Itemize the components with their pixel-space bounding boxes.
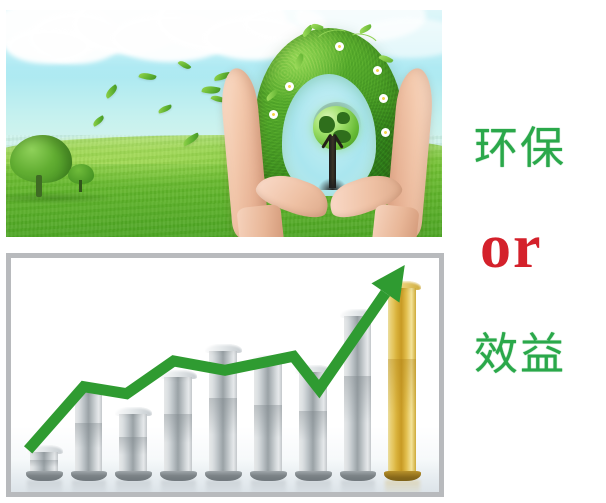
bar-reflection (161, 480, 196, 492)
poster-canvas: 环保 or 效益 (0, 0, 606, 503)
flower-icon (381, 128, 390, 137)
chart-bar (254, 362, 282, 474)
chart-bar (75, 392, 103, 474)
flower-icon (285, 82, 294, 91)
distant-tree-large-icon (10, 135, 72, 197)
slogan-column: 环保 or 效益 (452, 0, 606, 503)
bar-reflection (206, 480, 241, 492)
wrist-left (236, 204, 283, 237)
slogan-line-huanbao: 环保 (452, 112, 606, 176)
bar-reflection (251, 480, 286, 492)
slogan-line-xiaoyi: 效益 (452, 318, 606, 382)
globe-icon (313, 106, 359, 150)
bar-reflection (116, 480, 151, 492)
chart-bar-highlight (388, 288, 416, 474)
slogan-line-or: or (452, 212, 606, 283)
bar-front-face (119, 414, 147, 474)
bar-front-face (75, 392, 103, 474)
bar-front-face (299, 372, 327, 474)
flower-icon (269, 110, 278, 119)
moss-arch (255, 28, 403, 200)
wrist-right (372, 204, 419, 237)
chart-bar (164, 377, 192, 474)
bar-front-face (164, 377, 192, 474)
chart-plot-area (11, 258, 439, 492)
chart-bar (344, 316, 372, 474)
bar-front-face (344, 316, 372, 474)
cloud-icon (6, 28, 92, 64)
bar-front-face (254, 362, 282, 474)
bar-reflection (27, 480, 62, 492)
chart-bar (299, 372, 327, 474)
distant-tree-small-icon (68, 164, 94, 192)
bar-front-face (388, 288, 416, 474)
bar-reflection (72, 480, 107, 492)
growth-bar-chart (6, 253, 444, 497)
eco-photo (6, 10, 442, 237)
bar-reflection (296, 480, 331, 492)
bar-reflection (341, 480, 376, 492)
flower-icon (379, 94, 388, 103)
chart-bar (119, 414, 147, 474)
chart-bar (209, 351, 237, 474)
flower-icon (373, 66, 382, 75)
bar-front-face (209, 351, 237, 474)
bar-reflection (385, 480, 420, 492)
chart-bar (30, 452, 58, 474)
tree-silhouette-icon (329, 136, 336, 188)
